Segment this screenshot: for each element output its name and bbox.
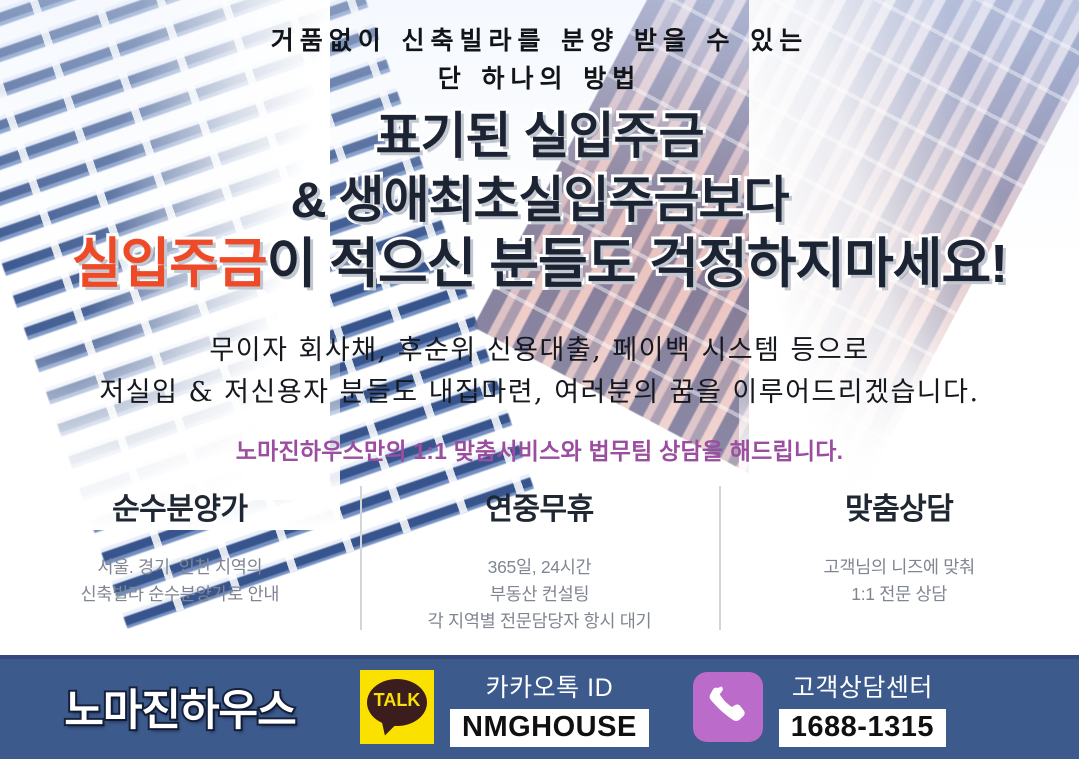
kakaotalk-icon[interactable]: TALK	[360, 670, 434, 744]
feature-title: 맞춤상담	[719, 484, 1079, 528]
feature-column-custom-consult: 맞춤상담 고객님의 니즈에 맞춰 1:1 전문 상담	[719, 482, 1079, 642]
headline-line-3-rest: 이 적으신 분들도 걱정하지마세요!	[267, 234, 1008, 294]
feature-body: 서울. 경기. 인천 지역의 신축빌라 순수분양가로 안내	[0, 554, 360, 608]
kakao-contact-group[interactable]: TALK 카카오톡 ID NMGHOUSE	[360, 668, 649, 747]
customer-center-number[interactable]: 1688-1315	[779, 709, 946, 747]
banner-content: 거품없이 신축빌라를 분양 받을 수 있는 단 하나의 방법 표기된 실입주금 …	[0, 0, 1079, 759]
kakao-id-value[interactable]: NMGHOUSE	[450, 709, 649, 747]
body-copy-line-2: 저실입 & 저신용자 분들도 내집마련, 여러분의 꿈을 이루어드리겠습니다.	[0, 372, 1079, 414]
feature-body: 365일, 24시간 부동산 컨설팅 각 지역별 전문담당자 항시 대기	[360, 554, 720, 635]
feature-body-line: 서울. 경기. 인천 지역의	[0, 554, 360, 581]
feature-column-pure-price: 순수분양가 서울. 경기. 인천 지역의 신축빌라 순수분양가로 안내	[0, 482, 360, 642]
main-headline: 표기된 실입주금 & 생애최초실입주금보다 실입주금이 적으신 분들도 걱정하지…	[0, 104, 1079, 296]
feature-body-line: 365일, 24시간	[360, 554, 720, 581]
phone-text-block: 고객상담센터 1688-1315	[779, 668, 946, 747]
advertisement-banner: 거품없이 신축빌라를 분양 받을 수 있는 단 하나의 방법 표기된 실입주금 …	[0, 0, 1079, 759]
feature-title: 연중무휴	[360, 484, 720, 528]
feature-body-line: 고객님의 니즈에 맞춰	[719, 554, 1079, 581]
eyebrow-text: 거품없이 신축빌라를 분양 받을 수 있는 단 하나의 방법	[0, 22, 1079, 98]
feature-body-line: 1:1 전문 상담	[719, 581, 1079, 608]
eyebrow-line-1: 거품없이 신축빌라를 분양 받을 수 있는	[0, 22, 1079, 60]
headline-line-3: 실입주금이 적으신 분들도 걱정하지마세요!	[0, 232, 1079, 296]
kakao-bubble-tail	[379, 719, 399, 737]
headline-highlight-word: 실입주금	[72, 234, 267, 294]
kakao-text-block: 카카오톡 ID NMGHOUSE	[450, 668, 649, 747]
body-copy-line-1: 무이자 회사채, 후순위 신용대출, 페이백 시스템 등으로	[0, 330, 1079, 372]
phone-icon[interactable]	[693, 672, 763, 742]
body-copy: 무이자 회사채, 후순위 신용대출, 페이백 시스템 등으로 저실입 & 저신용…	[0, 330, 1079, 414]
footer-contact-bar: 노마진하우스 TALK 카카오톡 ID NMGHOUSE	[0, 655, 1079, 759]
kakao-id-label: 카카오톡 ID	[486, 668, 613, 704]
headline-line-1: 표기된 실입주금	[0, 104, 1079, 168]
eyebrow-line-2: 단 하나의 방법	[0, 60, 1079, 98]
feature-column-always-open: 연중무휴 365일, 24시간 부동산 컨설팅 각 지역별 전문담당자 항시 대…	[360, 482, 720, 642]
phone-contact-group[interactable]: 고객상담센터 1688-1315	[693, 668, 946, 747]
kakao-talk-label: TALK	[360, 690, 434, 711]
footer-top-rule	[0, 655, 1079, 659]
feature-body-line: 각 지역별 전문담당자 항시 대기	[360, 608, 720, 635]
headline-line-2: & 생애최초실입주금보다	[0, 168, 1079, 232]
feature-columns: 순수분양가 서울. 경기. 인천 지역의 신축빌라 순수분양가로 안내 연중무휴…	[0, 482, 1079, 642]
feature-body: 고객님의 니즈에 맞춰 1:1 전문 상담	[719, 554, 1079, 608]
feature-body-line: 부동산 컨설팅	[360, 581, 720, 608]
feature-body-line: 신축빌라 순수분양가로 안내	[0, 581, 360, 608]
customer-center-label: 고객상담센터	[792, 668, 933, 704]
accent-tagline: 노마진하우스만의 1:1 맞춤서비스와 법무팀 상담을 해드립니다.	[0, 432, 1079, 466]
brand-name: 노마진하우스	[0, 676, 360, 738]
feature-title: 순수분양가	[0, 484, 360, 528]
